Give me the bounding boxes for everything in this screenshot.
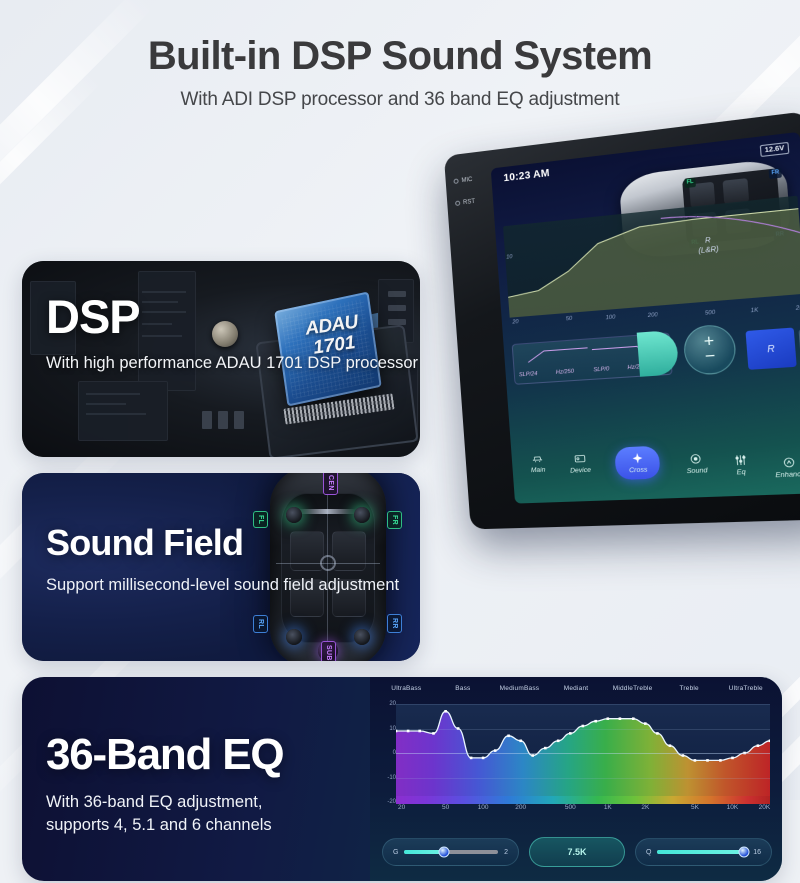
- q-slider-max-label: 16: [753, 849, 761, 856]
- eq-x-tick-7: 5K: [691, 804, 699, 811]
- card-dsp: ADAU 1701 DSP With high performance ADAU…: [22, 261, 420, 457]
- eq-band-point-15[interactable]: [582, 725, 585, 728]
- card-sound-field-text: Sound Field Support millisecond-level so…: [46, 525, 399, 597]
- gain-slider-min-label: G: [393, 849, 398, 856]
- card-eq-title: 36-Band EQ: [46, 733, 283, 777]
- eq-x-tick-2: 100: [478, 804, 489, 811]
- eq-band-point-27[interactable]: [731, 757, 734, 760]
- car-icon: [531, 452, 544, 465]
- nav-item-label: Cross: [629, 466, 648, 474]
- speaker-rear-right: [354, 629, 370, 645]
- badge-center: CEN: [323, 473, 338, 495]
- eq-band-point-26[interactable]: [719, 759, 722, 762]
- eq-band-point-16[interactable]: [594, 720, 597, 723]
- eq-x-tick-0: 20: [398, 804, 405, 811]
- nav-item-label: Device: [570, 466, 591, 474]
- car-head-unit: MIC RST 10:23 AM 12.6V FL: [432, 146, 800, 546]
- head-unit-side-buttons: MIC RST: [453, 175, 492, 249]
- eq-band-point-13[interactable]: [557, 740, 560, 743]
- freq-low-label: Hz/250: [556, 369, 575, 376]
- eq-band-label-0: UltraBass: [378, 685, 435, 701]
- hu-x-tick-5: 1K: [750, 307, 758, 314]
- eq-x-tick-1: 50: [442, 804, 449, 811]
- status-clock: 10:23 AM: [503, 168, 550, 185]
- hu-x-tick-0: 20: [512, 319, 519, 326]
- page-subtitle: With ADI DSP processor and 36 band EQ ad…: [0, 89, 800, 111]
- sparkle-icon: [630, 451, 644, 464]
- card-sound-field: FL FR RL RR CEN SUB Sound Field Support …: [22, 473, 420, 661]
- card-dsp-title: DSP: [46, 293, 418, 340]
- speaker-front-left: [286, 507, 302, 523]
- nav-item-eq[interactable]: Eq: [733, 453, 748, 476]
- eq-x-tick-8: 10K: [727, 804, 739, 811]
- nav-item-label: Enhance: [775, 470, 800, 479]
- hu-x-tick-1: 50: [566, 316, 573, 323]
- hu-x-tick-3: 200: [648, 312, 658, 319]
- eq-chart[interactable]: [396, 704, 770, 802]
- card-dsp-text: DSP With high performance ADAU 1701 DSP …: [46, 293, 418, 375]
- eq-band-point-25[interactable]: [706, 759, 709, 762]
- channel-label: R (L&R): [697, 236, 719, 257]
- eq-band-label-2: MediumBass: [491, 685, 548, 701]
- nav-item-device[interactable]: Device: [569, 451, 591, 474]
- eq-band-point-22[interactable]: [669, 744, 672, 747]
- head-unit-bezel: MIC RST 10:23 AM 12.6V FL: [444, 111, 800, 529]
- gain-slider-knob[interactable]: [438, 847, 449, 858]
- card-eq: 36-Band EQ With 36-band EQ adjustment, s…: [22, 677, 782, 881]
- eq-slider-row: G 2 7.5K Q 16: [382, 837, 772, 867]
- minus-icon[interactable]: −: [704, 347, 716, 367]
- nav-item-label: Eq: [736, 468, 746, 476]
- q-slider-knob[interactable]: [738, 847, 749, 858]
- card-eq-text: 36-Band EQ With 36-band EQ adjustment, s…: [46, 733, 283, 837]
- eq-band-point-1[interactable]: [407, 730, 410, 733]
- eq-band-point-24[interactable]: [694, 759, 697, 762]
- target-icon: [689, 452, 703, 465]
- card-sound-field-title: Sound Field: [46, 525, 399, 561]
- channel-toggle-pill[interactable]: [637, 330, 680, 377]
- eq-band-point-8[interactable]: [494, 749, 497, 752]
- q-slider[interactable]: Q 16: [635, 838, 772, 866]
- eq-y-tick-0: 20: [389, 701, 396, 707]
- eq-x-axis-labels: 20501002005001K2K5K10K20K: [396, 804, 770, 816]
- gain-slider-track[interactable]: [404, 850, 498, 854]
- voltage-badge: 12.6V: [760, 142, 790, 157]
- eq-band-labels: UltraBassBassMediumBassMediantMiddleTreb…: [378, 685, 774, 701]
- plus-minus-stepper[interactable]: + −: [682, 323, 737, 376]
- q-slider-min-label: Q: [646, 849, 651, 856]
- eq-band-label-6: UltraTreble: [717, 685, 774, 701]
- reset-indicator-icon: [455, 201, 460, 207]
- eq-band-point-7[interactable]: [482, 757, 485, 760]
- badge-rl: RL: [253, 615, 268, 633]
- eq-band-point-12[interactable]: [544, 747, 547, 750]
- nav-item-enhance[interactable]: Enhance: [774, 455, 800, 479]
- card-dsp-desc: With high performance ADAU 1701 DSP proc…: [46, 352, 418, 375]
- crossover-graph[interactable]: 10 R (L&R) 20501002005001K2K: [503, 196, 800, 334]
- eq-band-label-3: Mediant: [548, 685, 605, 701]
- mic-indicator-icon: [453, 178, 458, 184]
- eq-y-tick-3: -10: [387, 775, 396, 781]
- eq-band-point-10[interactable]: [519, 740, 522, 743]
- gain-slider[interactable]: G 2: [382, 838, 519, 866]
- card-sound-field-desc: Support millisecond-level sound field ad…: [46, 574, 399, 597]
- eq-band-label-5: Treble: [661, 685, 718, 701]
- channel-label-line2: (L&R): [698, 246, 719, 257]
- reset-button[interactable]: RST: [455, 197, 489, 207]
- eq-band-point-14[interactable]: [569, 732, 572, 735]
- slope-high-label: SLP/0: [593, 366, 609, 373]
- eq-y-tick-1: 10: [389, 726, 396, 732]
- eq-band-point-3[interactable]: [432, 732, 435, 735]
- slope-low-label: SLP/24: [519, 371, 538, 378]
- hu-x-tick-6: 2K: [796, 305, 800, 312]
- eq-band-point-23[interactable]: [682, 754, 685, 757]
- eq-band-point-30[interactable]: [769, 740, 770, 743]
- eq-band-label-1: Bass: [435, 685, 492, 701]
- device-icon: [573, 452, 586, 465]
- eq-band-point-21[interactable]: [656, 732, 659, 735]
- card-eq-desc: With 36-band EQ adjustment, supports 4, …: [46, 791, 283, 837]
- eq-band-point-0[interactable]: [396, 730, 397, 733]
- eq-band-point-17[interactable]: [607, 717, 610, 720]
- eq-x-tick-5: 1K: [604, 804, 612, 811]
- q-slider-track[interactable]: [657, 850, 747, 854]
- sliders-icon: [733, 453, 748, 467]
- card-eq-desc-line2: supports 4, 5.1 and 6 channels: [46, 814, 283, 837]
- eq-y-axis-labels: 20100-10-20: [376, 701, 396, 805]
- head-unit-screen[interactable]: 10:23 AM 12.6V FL FR RL RR: [491, 132, 800, 504]
- eq-band-point-6[interactable]: [470, 757, 473, 760]
- eq-band-point-2[interactable]: [418, 730, 421, 733]
- nav-item-sound[interactable]: Sound: [685, 451, 708, 474]
- head-unit-nav-bar: MainDeviceCrossSoundEqEnhance: [510, 411, 800, 499]
- hu-badge-fl: FL: [684, 177, 696, 188]
- page-header: Built-in DSP Sound System With ADI DSP p…: [0, 0, 800, 111]
- nav-item-label: Main: [531, 466, 546, 474]
- mic-button[interactable]: MIC: [453, 175, 487, 185]
- enhance-icon: [782, 455, 797, 469]
- eq-panel: UltraBassBassMediumBassMediantMiddleTreb…: [370, 677, 782, 881]
- eq-x-tick-4: 500: [565, 804, 576, 811]
- hu-badge-fr: FR: [769, 168, 782, 179]
- eq-band-point-20[interactable]: [644, 722, 647, 725]
- crossover-y-label: 10: [506, 254, 513, 261]
- nav-item-cross[interactable]: Cross: [614, 445, 661, 480]
- eq-band-point-4[interactable]: [444, 710, 447, 713]
- badge-sub: SUB: [321, 641, 336, 661]
- eq-spectrum-bar: [396, 796, 770, 804]
- eq-band-point-9[interactable]: [507, 735, 510, 738]
- eq-band-point-18[interactable]: [619, 717, 622, 720]
- right-channel-block[interactable]: R: [745, 328, 796, 370]
- hu-x-tick-2: 100: [605, 314, 615, 321]
- nav-item-main[interactable]: Main: [530, 452, 546, 474]
- eq-band-point-19[interactable]: [632, 717, 635, 720]
- page-title: Built-in DSP Sound System: [0, 34, 800, 79]
- gain-slider-max-label: 2: [504, 849, 508, 856]
- eq-x-tick-9: 20K: [759, 804, 771, 811]
- speaker-front-right: [354, 507, 370, 523]
- eq-band-point-11[interactable]: [531, 754, 534, 757]
- badge-rr: RR: [387, 614, 402, 633]
- eq-band-point-29[interactable]: [757, 744, 760, 747]
- head-unit-body: MIC RST 10:23 AM 12.6V FL: [418, 97, 800, 546]
- hu-x-tick-4: 500: [705, 309, 716, 316]
- eq-band-label-4: MiddleTreble: [604, 685, 661, 701]
- frequency-value-pill[interactable]: 7.5K: [529, 837, 625, 867]
- card-eq-desc-line1: With 36-band EQ adjustment,: [46, 791, 283, 814]
- speaker-rear-left: [286, 629, 302, 645]
- eq-x-tick-6: 2K: [641, 804, 649, 811]
- eq-x-tick-3: 200: [515, 804, 526, 811]
- nav-item-label: Sound: [686, 466, 707, 474]
